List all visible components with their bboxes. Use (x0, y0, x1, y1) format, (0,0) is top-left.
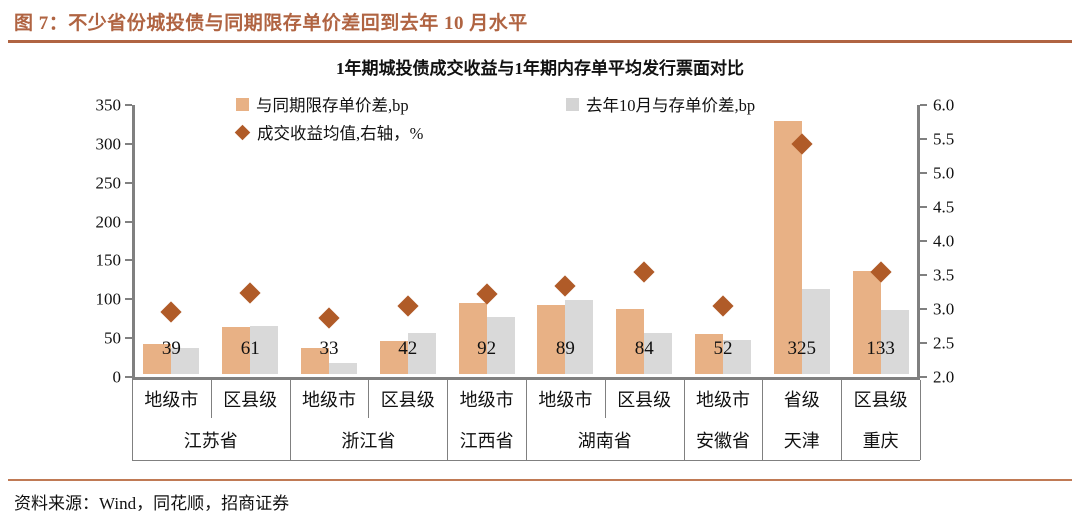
y-axis-left-tick-label: 100 (96, 291, 122, 308)
y-axis-right-tick-label: 3.5 (933, 267, 954, 284)
bar-value-label: 89 (525, 339, 605, 358)
chart-container: 1年期城投债成交收益与1年期内存单平均发行票面对比 与同期限存单价差,bp 去年… (0, 44, 1080, 472)
y-axis-left-tick (125, 298, 132, 300)
bar-value-label: 92 (447, 339, 527, 358)
page-title: 图 7：不少省份城投债与同期限存单价差回到去年 10 月水平 (14, 8, 528, 35)
bar-value-label: 33 (289, 339, 369, 358)
y-axis-right-tick (920, 308, 927, 310)
footer-divider (8, 479, 1072, 481)
category-label: 地级市 (526, 380, 605, 418)
group-separator (841, 418, 842, 460)
bar-value-label: 52 (683, 339, 763, 358)
scatter-point-avg-yield (712, 295, 733, 316)
category-label: 地级市 (132, 380, 211, 418)
group-label: 浙江省 (290, 420, 448, 460)
bar-value-label: 61 (210, 339, 290, 358)
category-label: 地级市 (684, 380, 763, 418)
y-axis-right-tick (920, 342, 927, 344)
category-separator (841, 380, 842, 418)
group-separator (526, 418, 527, 460)
y-axis-left-tick (125, 221, 132, 223)
y-axis-right-tick (920, 240, 927, 242)
y-axis-left-tick-label: 50 (104, 330, 121, 347)
category-label: 地级市 (447, 380, 526, 418)
scatter-point-avg-yield (634, 261, 655, 282)
scatter-point-avg-yield (397, 295, 418, 316)
category-separator (211, 380, 212, 418)
y-axis-left-tick-label: 200 (96, 213, 122, 230)
category-separator (605, 380, 606, 418)
figure-page: 图 7：不少省份城投债与同期限存单价差回到去年 10 月水平 1年期城投债成交收… (0, 0, 1080, 523)
category-label: 区县级 (841, 380, 920, 418)
group-separator (684, 418, 685, 460)
figure-header: 图 7：不少省份城投债与同期限存单价差回到去年 10 月水平 (0, 0, 1080, 42)
group-label: 天津 (762, 420, 841, 460)
group-separator (447, 418, 448, 460)
category-label: 地级市 (290, 380, 369, 418)
category-axis-bottom-rule (132, 460, 920, 461)
header-divider (8, 40, 1072, 43)
group-separator (920, 418, 921, 460)
category-label: 区县级 (368, 380, 447, 418)
bar-value-label: 133 (841, 339, 921, 358)
category-separator (762, 380, 763, 418)
category-separator (368, 380, 369, 418)
bar-value-label: 325 (762, 339, 842, 358)
scatter-point-avg-yield (240, 282, 261, 303)
scatter-point-avg-yield (318, 307, 339, 328)
group-label: 重庆 (841, 420, 920, 460)
bar-value-label: 39 (131, 339, 211, 358)
bar-spread-current (774, 121, 802, 374)
y-axis-right-tick-label: 3.0 (933, 301, 954, 318)
y-axis-right-tick (920, 138, 927, 140)
group-label: 湖南省 (526, 420, 684, 460)
bar-spread-october (802, 289, 830, 374)
y-axis-left-tick-label: 300 (96, 135, 122, 152)
y-axis-left-tick (125, 143, 132, 145)
group-label: 江西省 (447, 420, 526, 460)
y-axis-right-tick (920, 274, 927, 276)
y-axis-right-tick-label: 6.0 (933, 97, 954, 114)
y-axis-left-tick-label: 350 (96, 97, 122, 114)
group-separator (290, 418, 291, 460)
category-label: 省级 (762, 380, 841, 418)
group-separator (132, 418, 133, 460)
category-separator (290, 380, 291, 418)
y-axis-right-tick-label: 4.5 (933, 199, 954, 216)
y-axis-left-tick-label: 0 (113, 369, 122, 386)
category-separator (447, 380, 448, 418)
chart-title: 1年期城投债成交收益与1年期内存单平均发行票面对比 (0, 54, 1080, 79)
y-axis-right-tick-label: 5.0 (933, 165, 954, 182)
y-axis-right-tick (920, 172, 927, 174)
y-axis-left-tick (125, 376, 132, 378)
y-axis-left-tick (125, 104, 132, 106)
bar-spread-october (329, 363, 357, 374)
y-axis-right-tick (920, 376, 927, 378)
group-separator (762, 418, 763, 460)
scatter-point-avg-yield (555, 275, 576, 296)
group-label: 江苏省 (132, 420, 290, 460)
category-label: 区县级 (605, 380, 684, 418)
bar-value-label: 84 (604, 339, 684, 358)
y-axis-right-tick (920, 104, 927, 106)
y-axis-right-tick-label: 4.0 (933, 233, 954, 250)
y-axis-left-tick-label: 150 (96, 252, 122, 269)
y-axis-left-tick (125, 182, 132, 184)
category-separator (684, 380, 685, 418)
y-axis-right-tick-label: 2.0 (933, 369, 954, 386)
category-axis: 地级市区县级地级市区县级地级市地级市区县级地级市省级区县级 江苏省浙江省江西省湖… (132, 380, 920, 462)
y-axis-right-tick-label: 2.5 (933, 335, 954, 352)
source-note: 资料来源：Wind，同花顺，招商证券 (14, 489, 289, 514)
y-axis-left-tick-label: 250 (96, 174, 122, 191)
y-axis-left-tick (125, 259, 132, 261)
scatter-point-avg-yield (161, 301, 182, 322)
y-axis-right-tick (920, 206, 927, 208)
plot-area: 050100150200250300350 2.02.53.03.54.04.5… (132, 105, 920, 377)
group-label: 安徽省 (684, 420, 763, 460)
category-separator (920, 380, 921, 418)
category-label: 区县级 (211, 380, 290, 418)
bar-value-label: 42 (368, 339, 448, 358)
scatter-point-avg-yield (476, 283, 497, 304)
category-separator (526, 380, 527, 418)
y-axis-right-tick-label: 5.5 (933, 131, 954, 148)
category-separator (132, 380, 133, 418)
